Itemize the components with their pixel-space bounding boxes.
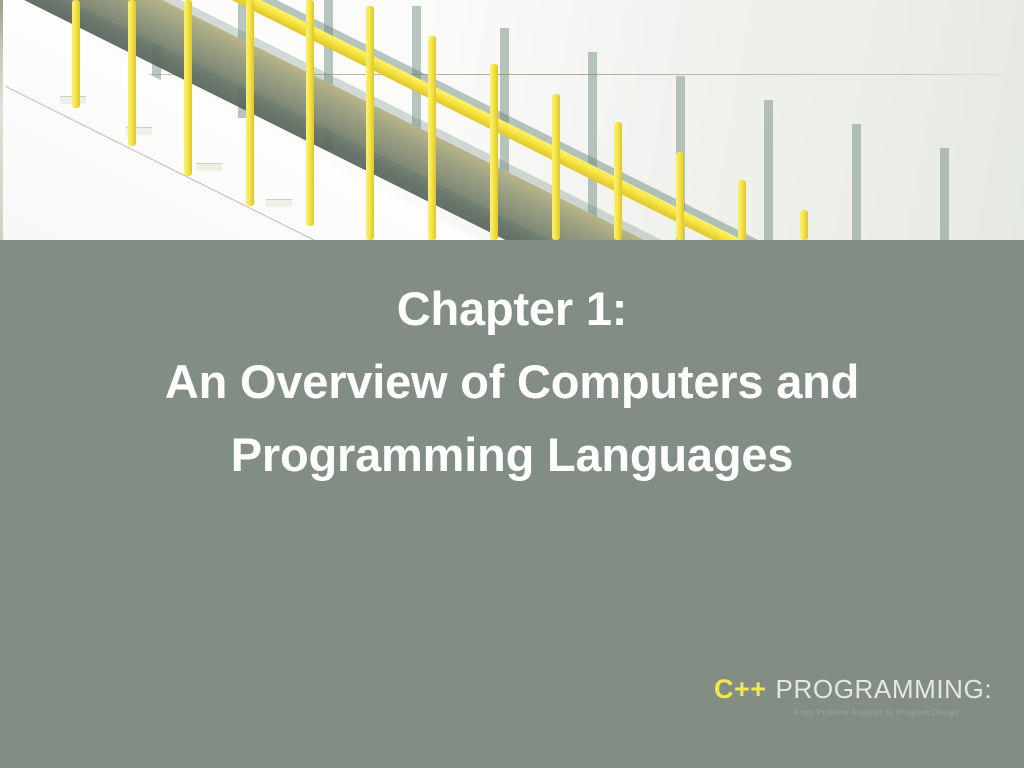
post-shadow <box>852 124 861 240</box>
presentation-slide: Chapter 1: An Overview of Computers and … <box>0 0 1024 768</box>
railing-post <box>614 122 622 240</box>
logo-wordmark-row: C++ PROGRAMMING: <box>714 676 966 703</box>
stair-tread <box>196 163 222 171</box>
railing-post <box>738 180 746 240</box>
railing-post <box>366 6 374 240</box>
railing-post <box>490 64 498 240</box>
slide-title: Chapter 1: An Overview of Computers and … <box>62 272 962 491</box>
staircase-photo <box>0 0 1024 240</box>
photo-left-edge <box>0 0 3 240</box>
stair-tread <box>266 199 292 207</box>
railing-post <box>72 0 80 108</box>
programming-logo-text: PROGRAMMING: <box>776 676 993 703</box>
title-line-2: An Overview of Computers and <box>62 345 962 418</box>
post-shadow <box>940 148 949 240</box>
railing-post <box>246 0 254 206</box>
railing-post <box>676 152 684 240</box>
title-line-3: Programming Languages <box>62 418 962 491</box>
post-shadow <box>588 52 597 230</box>
railing-post <box>128 0 136 146</box>
railing-post <box>552 94 560 240</box>
railing-post <box>306 0 314 226</box>
cpp-programming-logo: C++ PROGRAMMING: From Problem Analysis t… <box>714 676 966 722</box>
railing-post <box>428 36 436 240</box>
railing-post <box>184 0 192 176</box>
cpp-logo-text: C++ <box>714 676 767 703</box>
railing-post <box>800 210 808 240</box>
logo-tagline: From Problem Analysis to Program Design <box>794 708 966 718</box>
title-line-1: Chapter 1: <box>62 272 962 345</box>
post-shadow <box>764 100 773 240</box>
